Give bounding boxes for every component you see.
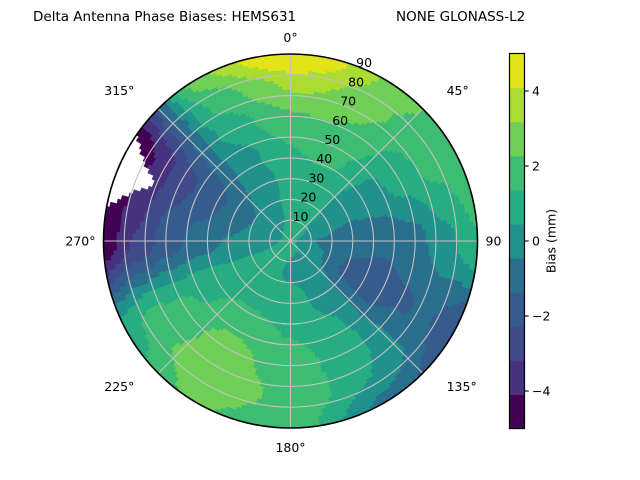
radial-tick-label: 50 — [324, 132, 340, 147]
azimuth-tick-label: 315° — [104, 83, 134, 98]
polar-gridlines — [104, 54, 478, 428]
radial-tick-label: 40 — [316, 151, 332, 166]
azimuth-tick-label: 135° — [447, 379, 477, 394]
radial-tick-label: 20 — [300, 190, 316, 205]
azimuth-tick-label: 225° — [104, 379, 134, 394]
azimuth-tick-label: 0° — [283, 30, 297, 45]
azimuth-tick-label: 180° — [275, 440, 305, 455]
radial-tick-label: 90 — [356, 55, 372, 70]
colorbar-axis-label: Bias (mm) — [544, 209, 559, 273]
radial-tick-label: 70 — [340, 94, 356, 109]
azimuth-tick-label: 45° — [447, 83, 469, 98]
radial-tick-label: 80 — [348, 74, 364, 89]
radial-tick-label: 60 — [332, 113, 348, 128]
radial-tick-label: 10 — [293, 209, 309, 224]
figure-canvas: Delta Antenna Phase Biases: HEMS631 NONE… — [0, 0, 640, 480]
radial-tick-label: 30 — [308, 170, 324, 185]
azimuth-tick-label: 270° — [65, 234, 95, 249]
azimuth-tick-label: 90 — [486, 234, 502, 249]
